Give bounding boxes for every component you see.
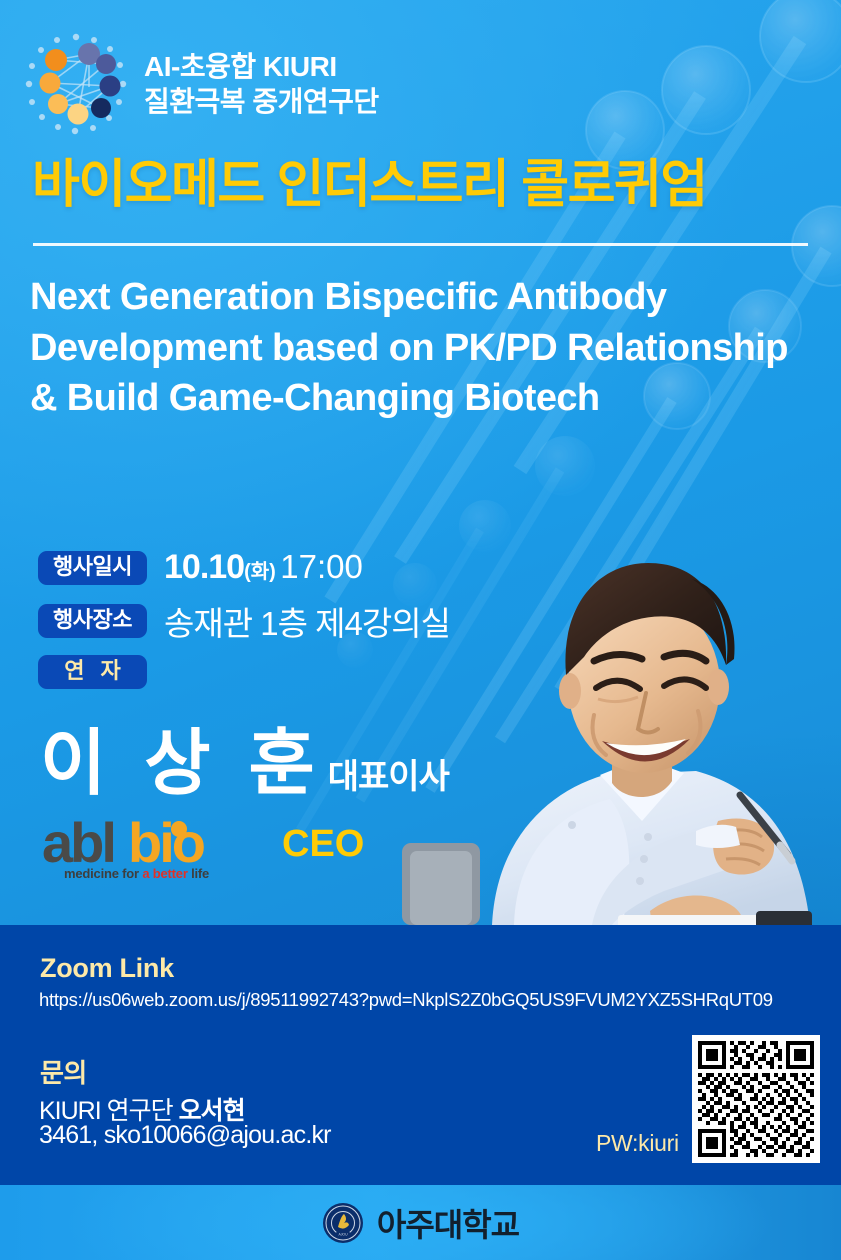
title-divider [33,243,808,246]
event-date-weekday: (화) [244,561,276,583]
zoom-link-heading: Zoom Link [40,953,174,984]
poster-footer: AJOU 아주대학교 [0,1185,841,1260]
kiuri-network-logo-icon [22,30,130,138]
speaker-block: 이 상 훈 대표이사 abl bio medicine for a better… [40,728,449,878]
ajou-university-seal-icon: AJOU [322,1202,364,1244]
brand-line-2: 질환극복 중개연구단 [144,88,379,116]
tagline-part-1: medicine for [64,866,142,881]
detail-row-date: 행사일시 10.10(화) 17:00 [38,548,450,587]
university-name: 아주대학교 [377,1200,519,1246]
company-row: abl bio medicine for a better life CEO [40,816,449,878]
contact-phone-email[interactable]: 3461, sko10066@ajou.ac.kr [39,1121,331,1150]
speaker-name-row: 이 상 훈 대표이사 [40,728,449,800]
badge-event-date: 행사일시 [38,551,147,585]
badge-event-place: 행사장소 [38,604,147,638]
speaker-photo [396,525,841,925]
event-date-value: 10.10(화) 17:00 [164,548,363,587]
svg-text:AJOU: AJOU [338,1232,348,1236]
tagline-accent: a better [142,866,187,881]
page-title: 바이오메드 인더스트리 콜로퀴엄 [32,158,707,213]
speaker-portrait-illustration [396,525,841,925]
speaker-name: 이 상 훈 [40,728,324,800]
qr-code-image [698,1041,814,1157]
detail-row-place: 행사장소 송재관 1층 제4강의실 [38,597,450,645]
badge-speaker: 연자 [38,655,147,689]
event-time: 17:00 [280,548,363,585]
brand-line-1: AI-초융합 KIURI [144,53,379,81]
poster-root: AI-초융합 KIURI 질환극복 중개연구단 바이오메드 인더스트리 콜로퀴엄… [0,0,841,1260]
event-details: 행사일시 10.10(화) 17:00 행사장소 송재관 1층 제4강의실 연자 [38,548,450,699]
ceo-label: CEO [282,823,364,866]
tagline-part-2: life [188,866,209,881]
ablbio-tagline: medicine for a better life [64,866,209,881]
contact-heading: 문의 [40,1053,87,1090]
detail-row-speaker: 연자 [38,655,450,689]
brand-block: AI-초융합 KIURI 질환극복 중개연구단 [22,30,379,138]
zoom-password-label: PW:kiuri [596,1130,679,1157]
talk-title: Next Generation Bispecific Antibody Deve… [30,272,790,424]
event-date-number: 10.10 [164,548,244,586]
brand-text: AI-초융합 KIURI 질환극복 중개연구단 [144,53,379,116]
qr-code[interactable] [692,1035,820,1163]
zoom-link-url[interactable]: https://us06web.zoom.us/j/89511992743?pw… [39,989,773,1011]
ablbio-logo: abl bio medicine for a better life [40,816,260,878]
